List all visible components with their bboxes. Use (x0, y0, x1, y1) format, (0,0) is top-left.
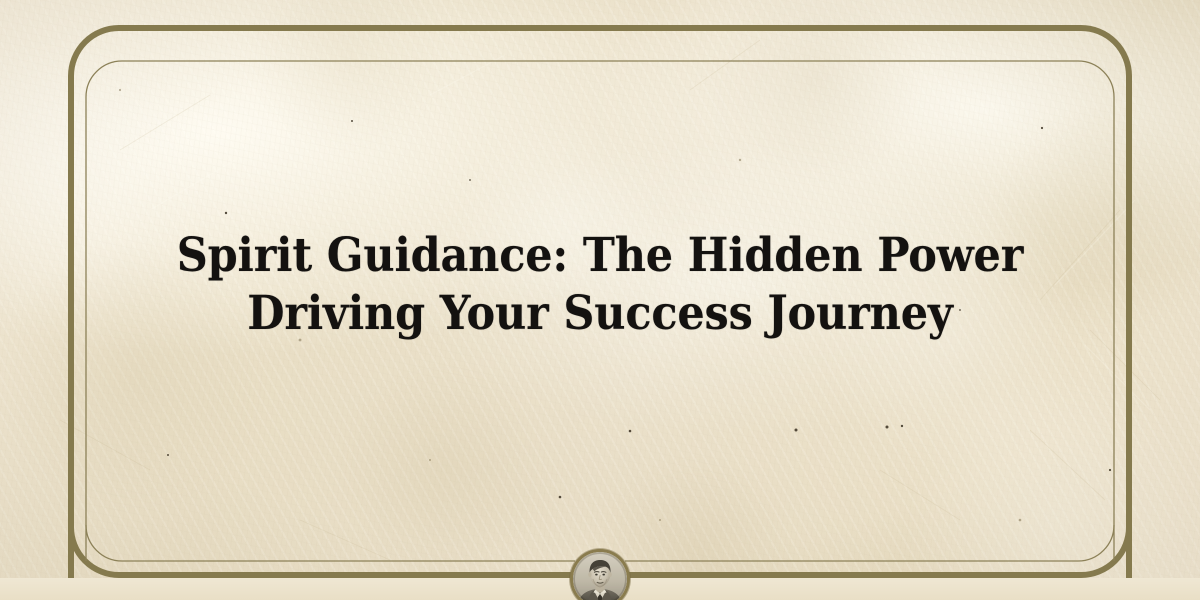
title-line-2: Driving Your Success Journey (51, 285, 1149, 343)
frame-inner-line-bottom-left (86, 525, 575, 561)
frame-outer-line-bottom-right (628, 527, 1129, 575)
portrait-svg (573, 552, 627, 600)
frame-inner-line-bottom-right (625, 525, 1114, 561)
portrait-image (573, 552, 627, 600)
page-title: Spirit Guidance: The Hidden Power Drivin… (0, 227, 1200, 343)
article-header-banner: Spirit Guidance: The Hidden Power Drivin… (0, 0, 1200, 600)
portrait-medallion (573, 552, 627, 600)
title-line-1: Spirit Guidance: The Hidden Power (51, 227, 1149, 285)
frame-outer-line-bottom-left (71, 527, 572, 575)
